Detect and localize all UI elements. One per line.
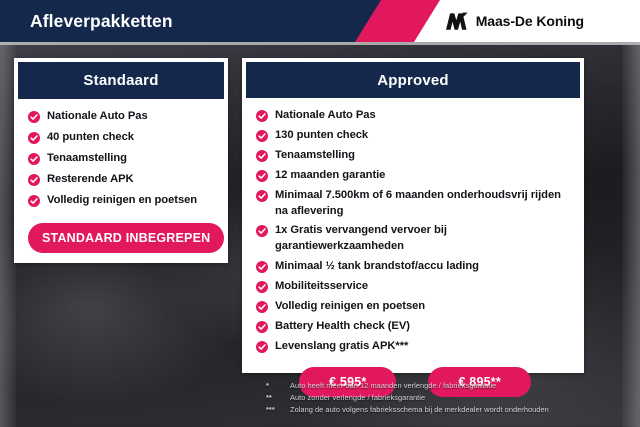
brand-name: Maas-De Koning	[476, 13, 584, 29]
footnote-label: Auto zonder verlengde / fabrieksgarantie	[290, 392, 616, 404]
footnote-row: *** Zolang de auto volgens fabrieksschem…	[266, 404, 616, 416]
maas-de-koning-logo-icon	[444, 12, 468, 31]
check-circle-icon	[28, 174, 40, 186]
check-circle-icon	[28, 153, 40, 165]
feature-label: Mobiliteitsservice	[275, 279, 368, 295]
list-item: Tenaamstelling	[256, 148, 574, 164]
feature-label: Tenaamstelling	[275, 148, 355, 164]
check-circle-icon	[256, 170, 268, 182]
card-body-standaard: Nationale Auto Pas 40 punten check Tenaa…	[14, 99, 228, 253]
background-edge-right	[622, 42, 640, 427]
feature-label: Levenslang gratis APK***	[275, 339, 408, 355]
list-item: Levenslang gratis APK***	[256, 339, 574, 355]
header-underline	[0, 42, 640, 45]
feature-label: Tenaamstelling	[47, 151, 127, 167]
feature-label: 12 maanden garantie	[275, 168, 385, 184]
package-card-standaard: Standaard Nationale Auto Pas 40 punten c	[14, 58, 228, 263]
feature-label: Volledig reinigen en poetsen	[47, 193, 197, 209]
card-header-approved: Approved	[246, 62, 580, 98]
footnote-marker: ***	[266, 404, 290, 416]
check-circle-icon	[256, 321, 268, 333]
footnote-label: Zolang de auto volgens fabrieksschema bi…	[290, 404, 616, 416]
list-item: Mobiliteitsservice	[256, 279, 574, 295]
afleverpakketten-screen: Afleverpakketten Maas-De Koning Standaar…	[0, 0, 640, 427]
list-item: 130 punten check	[256, 128, 574, 144]
feature-list-approved: Nationale Auto Pas 130 punten check Tena…	[256, 108, 574, 355]
feature-label: Nationale Auto Pas	[47, 109, 148, 125]
list-item: Volledig reinigen en poetsen	[28, 193, 218, 209]
check-circle-icon	[256, 281, 268, 293]
feature-label: Volledig reinigen en poetsen	[275, 299, 425, 315]
check-circle-icon	[28, 195, 40, 207]
check-circle-icon	[28, 111, 40, 123]
list-item: Minimaal ½ tank brandstof/accu lading	[256, 259, 574, 275]
check-circle-icon	[256, 261, 268, 273]
check-circle-icon	[28, 132, 40, 144]
check-circle-icon	[256, 225, 268, 237]
standaard-inbegrepen-button[interactable]: STANDAARD INBEGREPEN	[28, 223, 224, 253]
card-title-approved: Approved	[377, 72, 449, 89]
feature-label: Minimaal ½ tank brandstof/accu lading	[275, 259, 479, 275]
list-item: Battery Health check (EV)	[256, 319, 574, 335]
check-circle-icon	[256, 150, 268, 162]
feature-label: 40 punten check	[47, 130, 134, 146]
check-circle-icon	[256, 190, 268, 202]
card-header-standaard: Standaard	[18, 62, 224, 99]
feature-label: 130 punten check	[275, 128, 368, 144]
page-header: Afleverpakketten Maas-De Koning	[0, 0, 640, 42]
list-item: 1x Gratis vervangend vervoer bij garanti…	[256, 223, 574, 255]
card-title-standaard: Standaard	[83, 72, 158, 89]
check-circle-icon	[256, 301, 268, 313]
feature-label: Resterende APK	[47, 172, 134, 188]
footnote-marker: *	[266, 380, 290, 392]
check-circle-icon	[256, 341, 268, 353]
list-item: 12 maanden garantie	[256, 168, 574, 184]
list-item: Resterende APK	[28, 172, 218, 188]
check-circle-icon	[256, 130, 268, 142]
footnote-marker: **	[266, 392, 290, 404]
card-body-approved: Nationale Auto Pas 130 punten check Tena…	[242, 98, 584, 397]
list-item: Nationale Auto Pas	[28, 109, 218, 125]
footnote-label: Auto heeft meer dan 12 maanden verlengde…	[290, 380, 616, 392]
feature-list-standaard: Nationale Auto Pas 40 punten check Tenaa…	[28, 109, 218, 209]
list-item: Volledig reinigen en poetsen	[256, 299, 574, 315]
feature-label: Minimaal 7.500km of 6 maanden onderhouds…	[275, 188, 574, 220]
list-item: Nationale Auto Pas	[256, 108, 574, 124]
list-item: 40 punten check	[28, 130, 218, 146]
page-title: Afleverpakketten	[30, 0, 173, 42]
check-circle-icon	[256, 110, 268, 122]
list-item: Tenaamstelling	[28, 151, 218, 167]
feature-label: 1x Gratis vervangend vervoer bij garanti…	[275, 223, 574, 255]
list-item: Minimaal 7.500km of 6 maanden onderhouds…	[256, 188, 574, 220]
brand-logo: Maas-De Koning	[444, 0, 584, 42]
footnote-row: * Auto heeft meer dan 12 maanden verleng…	[266, 380, 616, 392]
feature-label: Battery Health check (EV)	[275, 319, 410, 335]
footnote-row: ** Auto zonder verlengde / fabrieksgaran…	[266, 392, 616, 404]
package-card-approved: Approved Nationale Auto Pas 130 punten c	[242, 58, 584, 373]
footnotes: * Auto heeft meer dan 12 maanden verleng…	[266, 380, 616, 416]
feature-label: Nationale Auto Pas	[275, 108, 376, 124]
